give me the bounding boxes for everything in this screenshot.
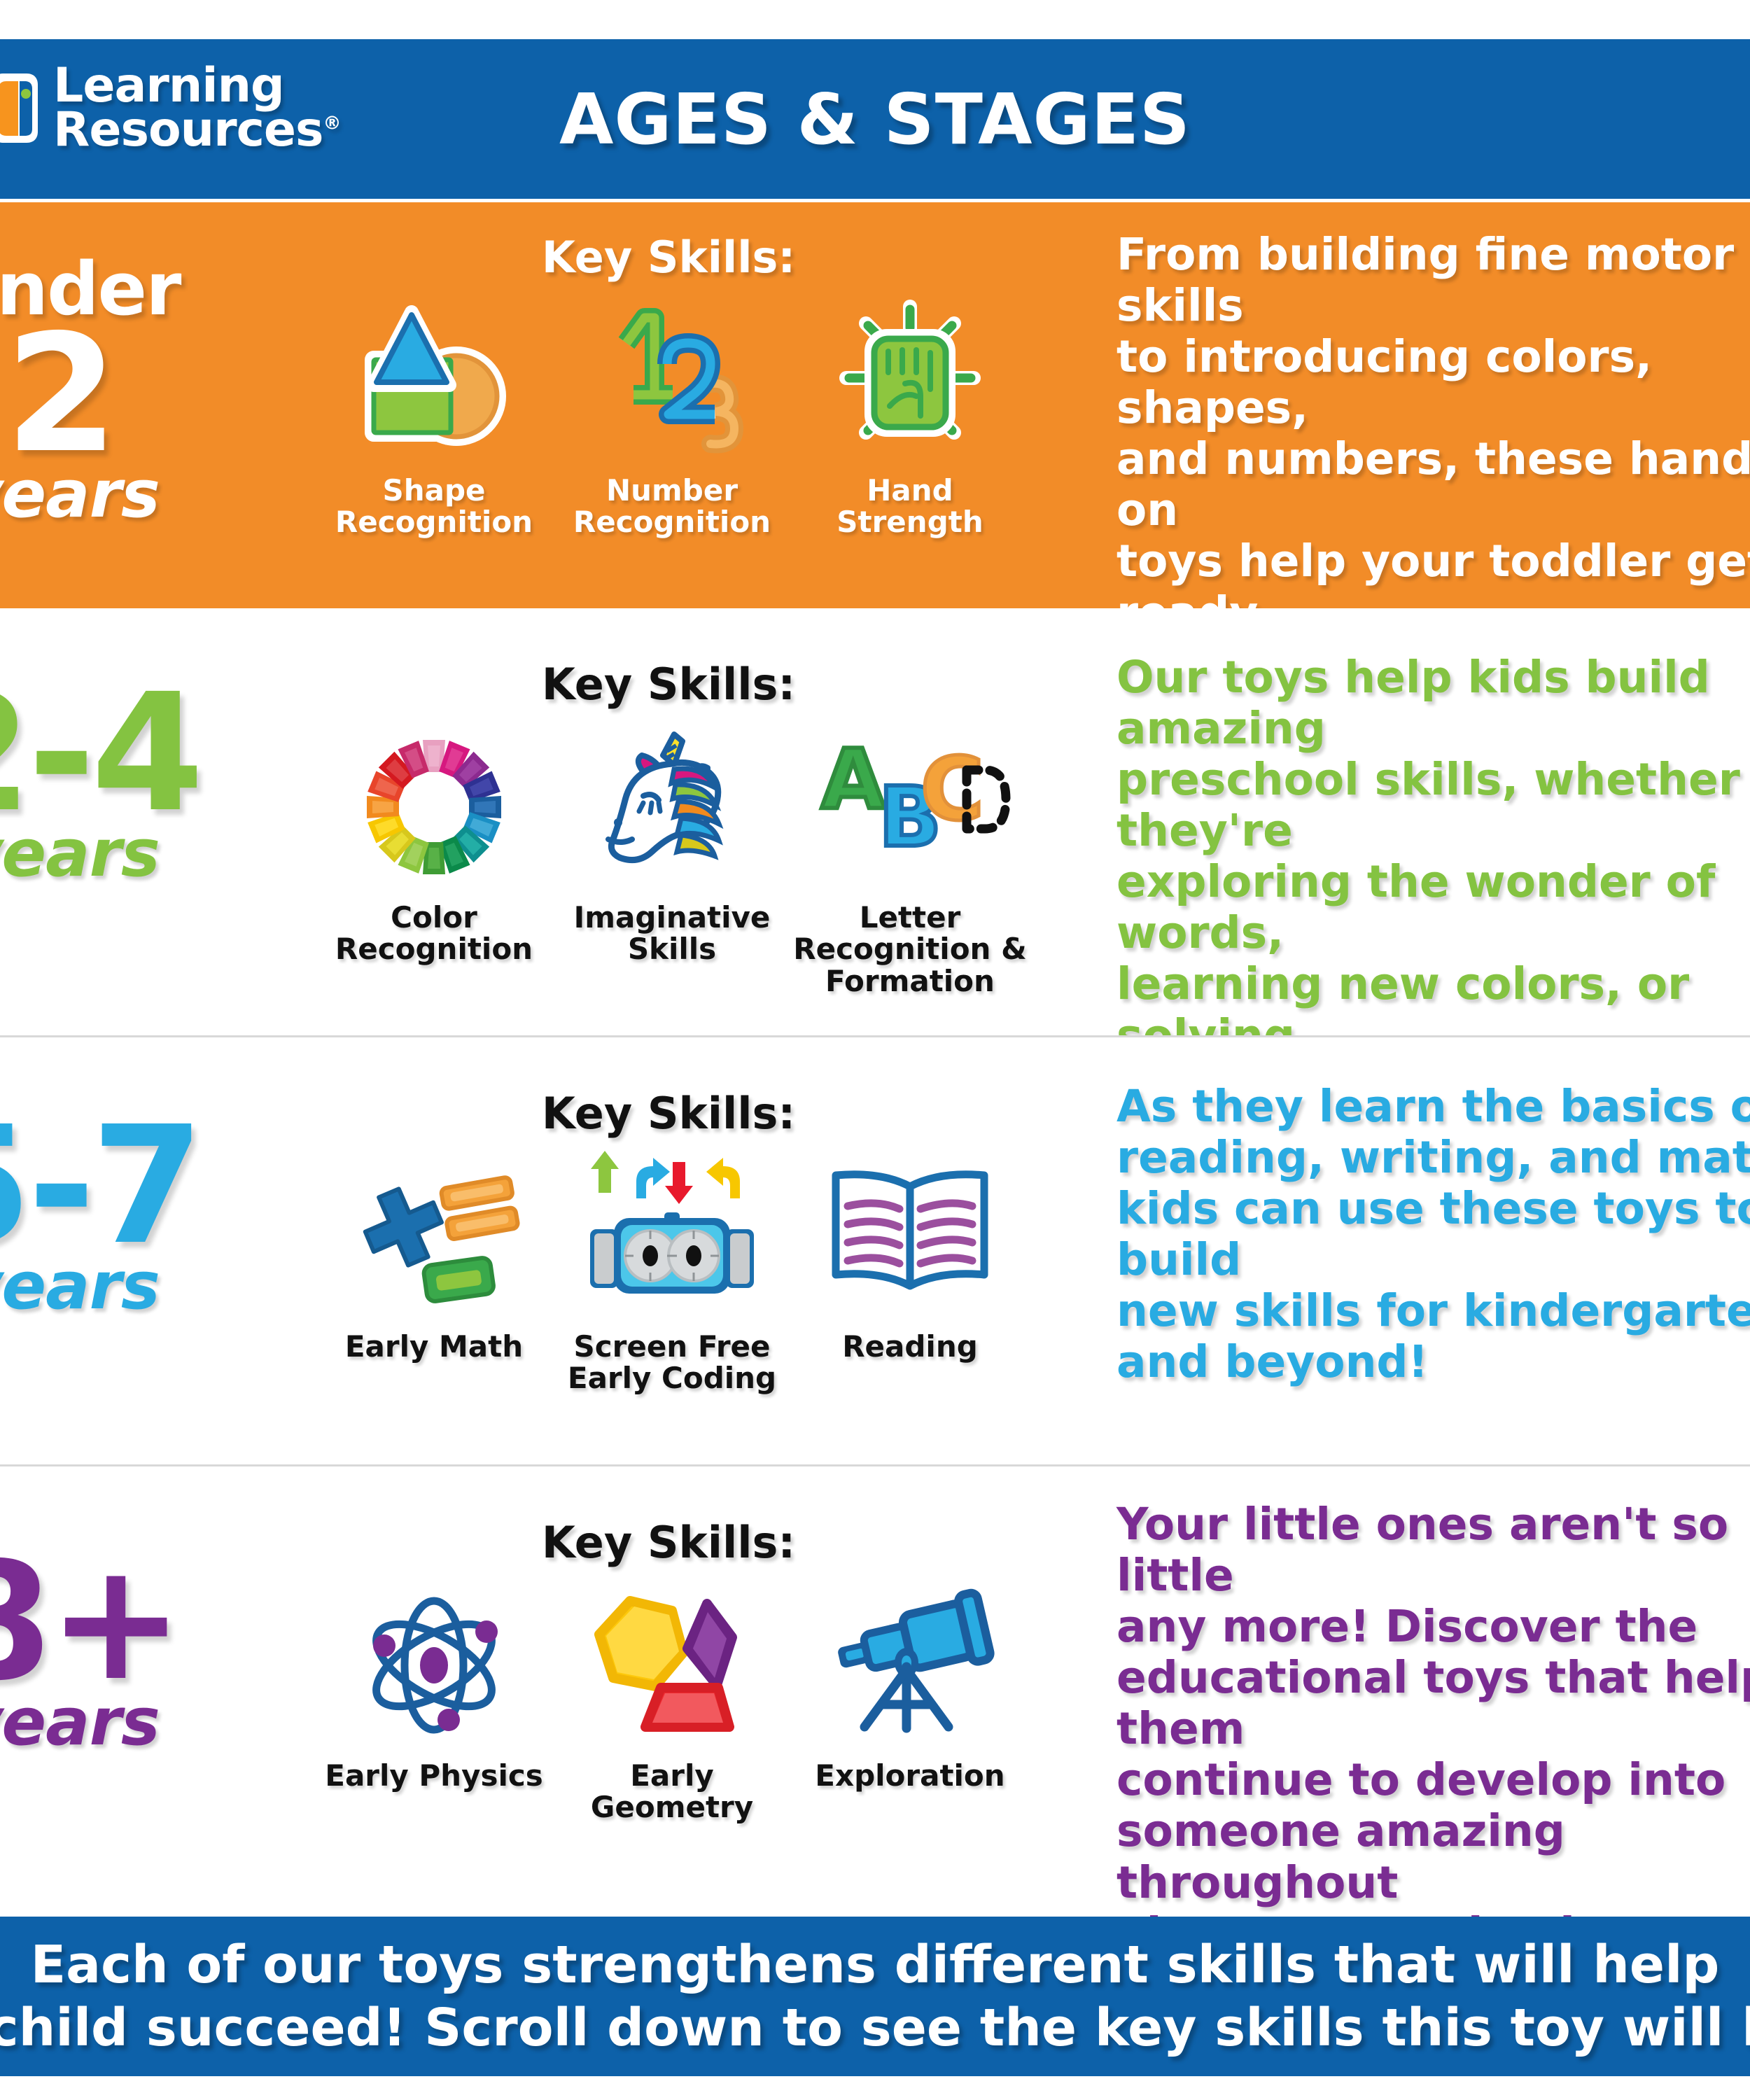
- age-number: 8+: [0, 1550, 210, 1693]
- age-number: 5-7: [0, 1114, 210, 1257]
- skill-color-recognition[interactable]: Color Recognition: [315, 720, 553, 997]
- key-skills-heading: Key Skills:: [252, 232, 1085, 283]
- key-skills-heading: Key Skills:: [252, 659, 1085, 710]
- age-description-8-plus: Your little ones aren't so little any mo…: [1116, 1499, 1750, 1959]
- age-years: years: [0, 465, 210, 525]
- skill-label: Shape Recognition: [335, 475, 533, 538]
- skill-label: Reading: [842, 1331, 978, 1362]
- skill-label: Early Physics: [325, 1760, 543, 1791]
- page-footer: Each of our toys strengthens different s…: [0, 1917, 1750, 2076]
- page-title: AGES & STAGES: [0, 39, 1750, 199]
- numbers-123-icon: [584, 293, 759, 468]
- skill-shape-recognition[interactable]: Shape Recognition: [315, 293, 553, 538]
- footer-line-1: Each of our toys strengthens different s…: [31, 1933, 1720, 1996]
- skill-label: Early Geometry: [591, 1760, 753, 1823]
- age-row-5-7: 5-7 years Key Skills:: [0, 1037, 1750, 1464]
- open-book-icon: [822, 1149, 997, 1324]
- skill-label: Early Math: [345, 1331, 523, 1362]
- skill-label: Letter Recognition & Formation: [793, 902, 1026, 997]
- age-label-5-7: 5-7 years: [0, 1114, 210, 1317]
- key-skills-heading: Key Skills:: [252, 1517, 1085, 1568]
- skill-label: Exploration: [815, 1760, 1004, 1791]
- skill-hand-strength[interactable]: Hand Strength: [791, 293, 1029, 538]
- key-skills-group-5-7: Key Skills:: [301, 1088, 1085, 1394]
- skill-letter-recognition[interactable]: A B C Letter Recognition & Formation: [791, 720, 1029, 997]
- skill-reading[interactable]: Reading: [791, 1149, 1029, 1394]
- key-skills-group-2-4: Key Skills:: [301, 659, 1085, 997]
- key-skills-group-8-plus: Key Skills:: [301, 1517, 1085, 1823]
- age-description-5-7: As they learn the basics of reading, wri…: [1116, 1081, 1750, 1387]
- fist-hand-icon: [822, 293, 997, 468]
- key-skills-heading: Key Skills:: [252, 1088, 1085, 1139]
- svg-text:A: A: [821, 731, 885, 827]
- skill-imaginative-skills[interactable]: Imaginative Skills: [553, 720, 791, 997]
- skill-label: Hand Strength: [791, 475, 1029, 538]
- page-header: Learning Resources® AGES & STAGES: [0, 39, 1750, 199]
- skill-label: Color Recognition: [335, 902, 533, 965]
- age-row-2-4: 2-4 years Key Skills:: [0, 608, 1750, 1035]
- age-number: 2: [0, 323, 210, 465]
- telescope-icon: [815, 1578, 1004, 1753]
- age-label-2-4: 2-4 years: [0, 682, 210, 884]
- skill-early-math[interactable]: Early Math: [315, 1149, 553, 1394]
- unicorn-icon: [584, 720, 759, 895]
- skill-screen-free-coding[interactable]: Screen Free Early Coding: [553, 1149, 791, 1394]
- color-wheel-icon: [357, 720, 511, 895]
- skill-early-geometry[interactable]: Early Geometry: [553, 1578, 791, 1823]
- key-skills-group-under-2: Key Skills:: [301, 232, 1085, 538]
- age-number: 2-4: [0, 682, 210, 825]
- svg-text:C: C: [920, 739, 984, 840]
- skill-label: Number Recognition: [573, 475, 771, 538]
- skill-number-recognition[interactable]: Number Recognition: [553, 293, 791, 538]
- age-row-8-plus: 8+ years Key Skills:: [0, 1466, 1750, 1917]
- age-label-8-plus: 8+ years: [0, 1550, 210, 1753]
- footer-line-2: your child succeed! Scroll down to see t…: [0, 1996, 1750, 2059]
- atom-icon: [353, 1578, 514, 1753]
- skill-label: Imaginative Skills: [574, 902, 771, 965]
- age-label-under-2: Under 2 years: [0, 257, 210, 524]
- math-symbols-icon: [346, 1149, 521, 1324]
- skill-early-physics[interactable]: Early Physics: [315, 1578, 553, 1823]
- infographic-page: Learning Resources® AGES & STAGES Under …: [0, 0, 1750, 2100]
- skill-label: Screen Free Early Coding: [568, 1331, 776, 1394]
- skill-exploration[interactable]: Exploration: [791, 1578, 1029, 1823]
- coding-robot-mouse-icon: [577, 1149, 766, 1324]
- shapes-icon: [343, 293, 525, 468]
- geometry-shapes-icon: [581, 1578, 763, 1753]
- age-row-under-2: Under 2 years Key Skills:: [0, 202, 1750, 608]
- abc-letters-icon: A B C: [808, 720, 1011, 895]
